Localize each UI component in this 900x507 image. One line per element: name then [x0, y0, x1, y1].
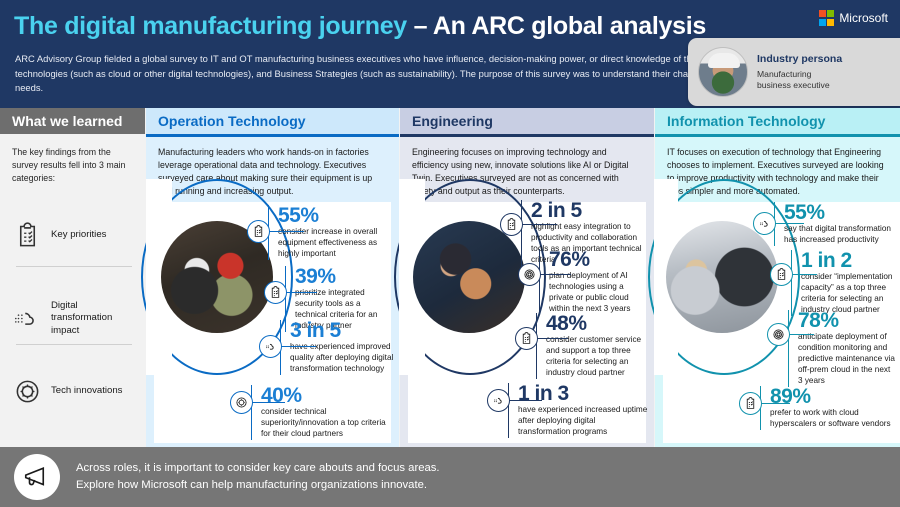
footer-line-2: Explore how Microsoft can help manufactu… — [76, 477, 440, 494]
connector-line — [521, 224, 557, 225]
stat-block: 1 in 2 consider “implementation capacity… — [791, 250, 896, 316]
sidebar-item-digital-transformation-impact[interactable]: Digital transformation impact — [14, 300, 136, 337]
page-title: The digital manufacturing journey – An A… — [14, 12, 706, 41]
stat-block: 40% consider technical superiority/innov… — [251, 385, 394, 440]
connector-line — [280, 346, 316, 347]
sidebar-item-key-priorities[interactable]: Key priorities — [14, 222, 136, 249]
stat-value: 76% — [549, 249, 647, 270]
sidebar-item-label: Key priorities — [51, 229, 106, 241]
column-header-engineering: Engineering — [400, 108, 654, 134]
stat-value: 55% — [278, 205, 393, 226]
connector-line — [791, 274, 817, 275]
stat-description: consider technical superiority/innovatio… — [261, 407, 394, 439]
footer-line-1: Across roles, it is important to conside… — [76, 460, 440, 477]
persona-title: Industry persona — [757, 53, 842, 66]
connector-line — [774, 223, 804, 224]
footer-text: Across roles, it is important to conside… — [76, 460, 440, 494]
stat-description: plan deployment of AI technologies using… — [549, 271, 647, 314]
stat-value: 2 in 5 — [531, 200, 649, 221]
stat-description: anticipate deployment of condition monit… — [798, 332, 896, 386]
connector-line — [251, 402, 285, 403]
cloud-dots-icon — [753, 212, 776, 235]
clipboard-check-icon — [770, 263, 793, 286]
stat-block: 55% consider increase in overall equipme… — [268, 205, 393, 260]
clipboard-check-icon — [739, 392, 762, 415]
persona-photo — [698, 47, 748, 97]
persona-subtitle: Manufacturing business executive — [757, 69, 842, 90]
connector-line — [539, 274, 571, 275]
microsoft-wordmark: Microsoft — [839, 11, 888, 25]
data-center-technician-photo — [663, 218, 781, 336]
page-title-main: The digital manufacturing journey — [14, 12, 407, 40]
stat-block: 3 in 5 have experienced improved quality… — [280, 320, 395, 375]
stat-value: 1 in 2 — [801, 250, 896, 271]
cloud-dots-icon — [259, 335, 282, 358]
gear-circle-icon — [14, 378, 41, 405]
column-header-row: What we learned Operation Technology Eng… — [0, 108, 900, 134]
connector-line — [760, 403, 790, 404]
column-header-information-technology: Information Technology — [655, 108, 900, 134]
sidebar-item-label: Digital transformation impact — [51, 300, 136, 337]
connector-line — [788, 334, 814, 335]
cloud-dots-icon — [14, 305, 41, 332]
clipboard-check-icon — [500, 213, 523, 236]
megaphone-icon — [14, 454, 60, 500]
stat-block: 89% prefer to work with cloud hyperscale… — [760, 386, 896, 430]
sidebar-item-tech-innovations[interactable]: Tech innovations — [14, 378, 136, 405]
stat-value: 48% — [546, 313, 648, 334]
infographic-page: The digital manufacturing journey – An A… — [0, 0, 900, 507]
clipboard-check-icon — [264, 281, 287, 304]
connector-line — [536, 338, 568, 339]
microsoft-squares-icon — [819, 10, 835, 26]
clipboard-check-icon — [14, 222, 41, 249]
microsoft-logo-icon: Microsoft — [819, 10, 888, 26]
stat-description: have experienced increased uptime after … — [518, 405, 648, 437]
gear-circle-icon — [518, 263, 541, 286]
industry-persona-card: Industry persona Manufacturing business … — [688, 38, 900, 106]
sidebar-intro: The key findings from the survey results… — [12, 146, 135, 185]
connector-line — [508, 400, 542, 401]
stat-block: 76% plan deployment of AI technologies u… — [539, 249, 647, 315]
clipboard-check-icon — [247, 220, 270, 243]
page-title-sub: – An ARC global analysis — [414, 12, 706, 40]
column-header-what-we-learned: What we learned — [0, 108, 145, 134]
stat-description: say that digital transformation has incr… — [784, 224, 896, 246]
stat-value: 39% — [295, 266, 395, 287]
stat-value: 3 in 5 — [290, 320, 395, 341]
connector-line — [268, 231, 304, 232]
footer-banner: Across roles, it is important to conside… — [0, 447, 900, 507]
cloud-dots-icon — [487, 389, 510, 412]
stat-value: 78% — [798, 310, 896, 331]
stat-value: 55% — [784, 202, 896, 223]
connector-line — [285, 292, 317, 293]
stat-block: 1 in 3 have experienced increased uptime… — [508, 383, 648, 438]
sidebar-divider — [16, 266, 132, 267]
sidebar-divider — [16, 344, 132, 345]
stat-block: 78% anticipate deployment of condition m… — [788, 310, 896, 387]
stat-description: prefer to work with cloud hyperscalers o… — [770, 408, 896, 430]
clipboard-check-icon — [515, 327, 538, 350]
gear-circle-icon — [767, 323, 790, 346]
stat-description: consider customer service and support a … — [546, 335, 648, 378]
sidebar-item-label: Tech innovations — [51, 385, 122, 397]
gear-circle-icon — [230, 391, 253, 414]
column-header-operation-technology: Operation Technology — [146, 108, 399, 134]
stat-block: 48% consider customer service and suppor… — [536, 313, 648, 379]
